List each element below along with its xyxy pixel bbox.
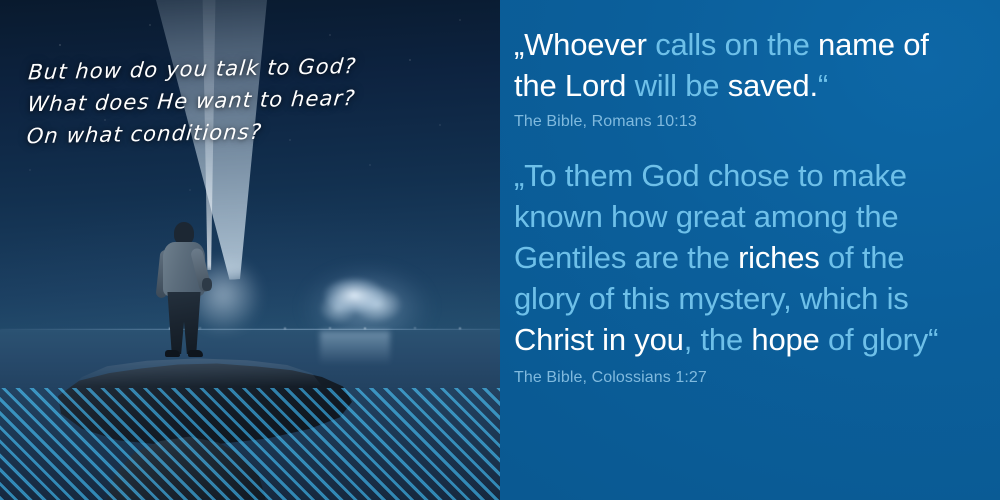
quote-source-romans: The Bible, Romans 10:13	[514, 111, 978, 133]
quote-normal-run: “	[818, 68, 828, 103]
handwritten-question-note: But how do you talk to God? What does He…	[21, 48, 480, 153]
quote-normal-run: will be	[635, 68, 728, 103]
quote-normal-run: calls on the	[655, 27, 818, 62]
glowing-cloud-icon	[314, 272, 410, 328]
photo-panel: But how do you talk to God? What does He…	[0, 0, 500, 500]
man-right-shoe	[188, 350, 203, 357]
quote-normal-run: , the	[684, 322, 752, 357]
quote-block-colossians: „To them God chose to make known how gre…	[514, 155, 978, 389]
quote-text-romans: „Whoever calls on the name of the Lord w…	[514, 24, 978, 106]
quote-emphasis-run: Christ in you	[514, 322, 684, 357]
quote-normal-run: of glory“	[820, 322, 939, 357]
quote-text-colossians: „To them God chose to make known how gre…	[514, 155, 978, 360]
slide-root: But how do you talk to God? What does He…	[0, 0, 1000, 500]
quote-panel: „Whoever calls on the name of the Lord w…	[500, 0, 1000, 500]
man-hand-holding-flashlight	[202, 278, 212, 291]
quote-emphasis-run: riches	[738, 240, 820, 275]
quote-emphasis-run: „Whoever	[514, 27, 655, 62]
man-legs	[166, 292, 202, 354]
sea-reflection	[320, 331, 390, 365]
diagonal-stripe-overlay	[0, 388, 500, 500]
quote-block-romans: „Whoever calls on the name of the Lord w…	[514, 24, 978, 133]
quote-emphasis-run: hope	[751, 322, 819, 357]
man-left-shoe	[165, 350, 180, 357]
quote-emphasis-run: saved.	[728, 68, 818, 103]
man-silhouette	[150, 222, 220, 358]
quote-source-colossians: The Bible, Colossians 1:27	[514, 367, 978, 389]
